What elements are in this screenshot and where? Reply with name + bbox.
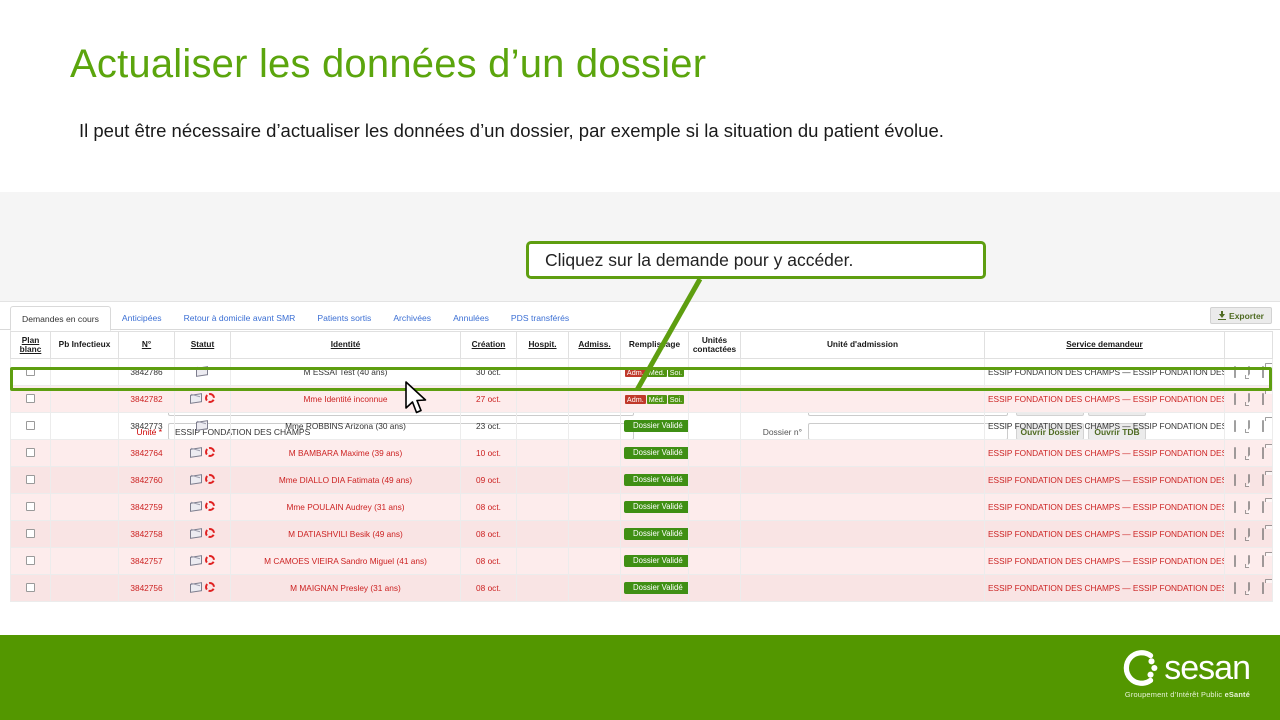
hospit-cell xyxy=(517,575,569,602)
creation-cell: 09 oct. xyxy=(461,467,517,494)
tab-5[interactable]: Annulées xyxy=(442,306,500,330)
remplissage-cell: Adm.Méd.Soi. xyxy=(621,386,689,413)
unites-contactees-cell xyxy=(689,413,741,440)
row-checkbox[interactable] xyxy=(26,475,35,484)
table-row[interactable]: 3842773Mme ROBBINS Arizona (30 ans)23 oc… xyxy=(11,413,1273,440)
remplissage-badges: Adm.Méd.Soi. xyxy=(625,395,684,405)
unite-admission-cell xyxy=(741,413,985,440)
num-cell[interactable]: 3842760 xyxy=(119,467,175,494)
num-cell[interactable]: 3842758 xyxy=(119,521,175,548)
row-checkbox-cell[interactable] xyxy=(11,494,51,521)
pb-infectieux-cell xyxy=(51,521,119,548)
row-checkbox-cell[interactable] xyxy=(11,575,51,602)
paperclip-icon[interactable] xyxy=(1229,529,1240,540)
pb-infectieux-cell xyxy=(51,575,119,602)
admiss-cell xyxy=(569,548,621,575)
table-row[interactable]: 3842764M BAMBARA Maxime (39 ans)10 oct.D… xyxy=(11,440,1273,467)
row-checkbox[interactable] xyxy=(26,529,35,538)
demandes-table: Plan blancPb InfectieuxN°StatutIdentitéC… xyxy=(10,331,1273,602)
admiss-cell xyxy=(569,386,621,413)
callout-text: Cliquez sur la demande pour y accéder. xyxy=(545,250,853,271)
row-checkbox[interactable] xyxy=(26,394,35,403)
envelope-icon xyxy=(196,366,209,377)
hospit-cell xyxy=(517,359,569,386)
service-demandeur-cell: ESSIP FONDATION DES CHAMPS — ESSIP FONDA… xyxy=(985,440,1225,467)
paperclip-icon[interactable] xyxy=(1229,502,1240,513)
badge-Soi: Soi. xyxy=(668,395,684,405)
badge-Adm: Adm. xyxy=(625,395,646,405)
table-header-3[interactable]: Statut xyxy=(175,332,231,359)
status-badge: Dossier Validé xyxy=(624,528,689,541)
row-actions-cell[interactable] xyxy=(1225,494,1273,521)
refresh-icon xyxy=(205,474,215,484)
demandes-table-wrap: Plan blancPb InfectieuxN°StatutIdentitéC… xyxy=(10,331,1272,602)
table-header-11[interactable]: Service demandeur xyxy=(985,332,1225,359)
envelope-icon xyxy=(190,582,203,593)
printer-icon[interactable] xyxy=(1257,475,1268,486)
unite-admission-cell xyxy=(741,386,985,413)
refresh-icon xyxy=(205,393,215,403)
service-demandeur-cell: ESSIP FONDATION DES CHAMPS — ESSIP FONDA… xyxy=(985,521,1225,548)
num-cell[interactable]: 3842764 xyxy=(119,440,175,467)
creation-cell: 30 oct. xyxy=(461,359,517,386)
creation-cell: 23 oct. xyxy=(461,413,517,440)
row-checkbox-cell[interactable] xyxy=(11,467,51,494)
statut-cell[interactable] xyxy=(175,494,231,521)
admiss-cell xyxy=(569,413,621,440)
num-cell[interactable]: 3842757 xyxy=(119,548,175,575)
paperclip-icon[interactable] xyxy=(1229,394,1240,405)
admiss-cell xyxy=(569,359,621,386)
slide-root: Actualiser les données d’un dossier Il p… xyxy=(0,0,1280,720)
identite-cell[interactable]: M CAMOES VIEIRA Sandro Miguel (41 ans) xyxy=(231,548,461,575)
pb-infectieux-cell xyxy=(51,494,119,521)
sesan-logo-tagline: Groupement d’Intérêt Public eSanté xyxy=(1125,690,1250,699)
printer-icon[interactable] xyxy=(1257,394,1268,405)
remplissage-cell: Dossier Validé xyxy=(621,494,689,521)
hospit-cell xyxy=(517,494,569,521)
table-header-8[interactable]: Remplissage xyxy=(621,332,689,359)
pb-infectieux-cell xyxy=(51,440,119,467)
paperclip-icon[interactable] xyxy=(1229,367,1240,378)
pb-infectieux-cell xyxy=(51,359,119,386)
remplissage-cell: Adm.Méd.Soi. xyxy=(621,359,689,386)
unites-contactees-cell xyxy=(689,494,741,521)
row-checkbox[interactable] xyxy=(26,421,35,430)
unite-admission-cell xyxy=(741,359,985,386)
row-actions-cell[interactable] xyxy=(1225,521,1273,548)
service-demandeur-cell: ESSIP FONDATION DES CHAMPS — ESSIP FONDA… xyxy=(985,494,1225,521)
num-cell[interactable]: 3842759 xyxy=(119,494,175,521)
statut-cell[interactable] xyxy=(175,386,231,413)
table-header-2[interactable]: N° xyxy=(119,332,175,359)
table-header-5[interactable]: Création xyxy=(461,332,517,359)
refresh-icon xyxy=(205,582,215,592)
printer-icon[interactable] xyxy=(1257,421,1268,432)
printer-icon[interactable] xyxy=(1257,583,1268,594)
sesan-logo: sesan xyxy=(1120,647,1250,689)
paperclip-icon[interactable] xyxy=(1229,448,1240,459)
badge-Soi: Soi. xyxy=(668,368,684,378)
paperclip-icon[interactable] xyxy=(1229,421,1240,432)
row-checkbox-cell[interactable] xyxy=(11,521,51,548)
tab-3[interactable]: Patients sortis xyxy=(306,306,382,330)
printer-icon[interactable] xyxy=(1257,448,1268,459)
tab-4[interactable]: Archivées xyxy=(382,306,442,330)
row-actions-cell[interactable] xyxy=(1225,575,1273,602)
statut-cell[interactable] xyxy=(175,521,231,548)
remplissage-cell: Dossier Validé xyxy=(621,521,689,548)
row-checkbox[interactable] xyxy=(26,583,35,592)
creation-cell: 08 oct. xyxy=(461,494,517,521)
unites-contactees-cell xyxy=(689,440,741,467)
printer-icon[interactable] xyxy=(1257,529,1268,540)
pb-infectieux-cell xyxy=(51,467,119,494)
hospit-cell xyxy=(517,548,569,575)
envelope-icon xyxy=(190,393,203,404)
row-actions-cell[interactable] xyxy=(1225,359,1273,386)
creation-cell: 27 oct. xyxy=(461,386,517,413)
paperclip-icon[interactable] xyxy=(1229,583,1240,594)
download-icon xyxy=(1218,311,1226,320)
row-actions-cell[interactable] xyxy=(1225,440,1273,467)
printer-icon[interactable] xyxy=(1257,556,1268,567)
unites-contactees-cell xyxy=(689,467,741,494)
service-demandeur-cell: ESSIP FONDATION DES CHAMPS — ESSIP FONDA… xyxy=(985,575,1225,602)
table-header-1[interactable]: Pb Infectieux xyxy=(51,332,119,359)
footer-band: sesan Groupement d’Intérêt Public eSanté xyxy=(0,635,1280,720)
row-checkbox-cell[interactable] xyxy=(11,440,51,467)
remplissage-cell: Dossier Validé xyxy=(621,575,689,602)
service-demandeur-cell: ESSIP FONDATION DES CHAMPS — ESSIP FONDA… xyxy=(985,413,1225,440)
service-demandeur-cell: ESSIP FONDATION DES CHAMPS — ESSIP FONDA… xyxy=(985,548,1225,575)
creation-cell: 08 oct. xyxy=(461,521,517,548)
table-row[interactable]: 3842760Mme DIALLO DIA Fatimata (49 ans)0… xyxy=(11,467,1273,494)
envelope-icon xyxy=(190,474,203,485)
envelope-icon xyxy=(190,501,203,512)
sesan-logo-mark-icon xyxy=(1120,647,1162,689)
tab-2[interactable]: Retour à domicile avant SMR xyxy=(173,306,307,330)
unite-admission-cell xyxy=(741,467,985,494)
unites-contactees-cell xyxy=(689,359,741,386)
page-title: Actualiser les données d’un dossier xyxy=(70,42,706,87)
tab-list: Demandes en coursAnticipéesRetour à domi… xyxy=(10,304,580,330)
unites-contactees-cell xyxy=(689,575,741,602)
hospit-cell xyxy=(517,521,569,548)
unite-admission-cell xyxy=(741,575,985,602)
admiss-cell xyxy=(569,521,621,548)
table-header-10[interactable]: Unité d'admission xyxy=(741,332,985,359)
export-button[interactable]: Exporter xyxy=(1210,307,1272,324)
hospit-cell xyxy=(517,467,569,494)
statut-cell[interactable] xyxy=(175,467,231,494)
table-row[interactable]: 3842759Mme POULAIN Audrey (31 ans)08 oct… xyxy=(11,494,1273,521)
identite-cell[interactable]: Mme POULAIN Audrey (31 ans) xyxy=(231,494,461,521)
note-icon[interactable] xyxy=(1243,502,1254,513)
service-demandeur-cell: ESSIP FONDATION DES CHAMPS — ESSIP FONDA… xyxy=(985,386,1225,413)
admiss-cell xyxy=(569,440,621,467)
mouse-cursor-icon xyxy=(404,381,430,417)
note-icon[interactable] xyxy=(1243,367,1254,378)
statut-cell[interactable] xyxy=(175,413,231,440)
row-actions-cell[interactable] xyxy=(1225,413,1273,440)
admiss-cell xyxy=(569,575,621,602)
refresh-icon xyxy=(205,528,215,538)
creation-cell: 10 oct. xyxy=(461,440,517,467)
table-header-9[interactable]: Unités contactées xyxy=(689,332,741,359)
callout-box: Cliquez sur la demande pour y accéder. xyxy=(526,241,986,279)
table-row[interactable]: 3842786M ESSAI Test (40 ans)30 oct.Adm.M… xyxy=(11,359,1273,386)
refresh-icon xyxy=(205,501,215,511)
table-header-row: Plan blancPb InfectieuxN°StatutIdentitéC… xyxy=(11,332,1273,359)
row-checkbox[interactable] xyxy=(26,448,35,457)
table-row[interactable]: 3842756M MAIGNAN Presley (31 ans)08 oct.… xyxy=(11,575,1273,602)
identite-cell[interactable]: Mme DIALLO DIA Fatimata (49 ans) xyxy=(231,467,461,494)
hospit-cell xyxy=(517,386,569,413)
note-icon[interactable] xyxy=(1243,556,1254,567)
row-checkbox-cell[interactable] xyxy=(11,413,51,440)
table-header-12[interactable] xyxy=(1225,332,1273,359)
identite-cell[interactable]: M DATIASHVILI Besik (49 ans) xyxy=(231,521,461,548)
row-checkbox[interactable] xyxy=(26,367,35,376)
note-icon[interactable] xyxy=(1243,421,1254,432)
creation-cell: 08 oct. xyxy=(461,575,517,602)
unite-admission-cell xyxy=(741,548,985,575)
admiss-cell xyxy=(569,467,621,494)
status-badge: Dossier Validé xyxy=(624,420,689,433)
table-header-0[interactable]: Plan blanc xyxy=(11,332,51,359)
envelope-icon xyxy=(190,555,203,566)
row-actions-cell[interactable] xyxy=(1225,386,1273,413)
unites-contactees-cell xyxy=(689,521,741,548)
table-header-7[interactable]: Admiss. xyxy=(569,332,621,359)
note-icon[interactable] xyxy=(1243,529,1254,540)
refresh-icon xyxy=(205,555,215,565)
tab-1[interactable]: Anticipées xyxy=(111,306,173,330)
tab-0[interactable]: Demandes en cours xyxy=(10,306,111,331)
sesan-logo-text: sesan xyxy=(1164,651,1250,685)
service-demandeur-cell: ESSIP FONDATION DES CHAMPS — ESSIP FONDA… xyxy=(985,359,1225,386)
num-cell[interactable]: 3842756 xyxy=(119,575,175,602)
badge-Méd: Méd. xyxy=(647,395,667,405)
note-icon[interactable] xyxy=(1243,394,1254,405)
statut-cell[interactable] xyxy=(175,548,231,575)
admiss-cell xyxy=(569,494,621,521)
status-badge: Dossier Validé xyxy=(624,447,689,460)
unite-admission-cell xyxy=(741,494,985,521)
remplissage-cell: Dossier Validé xyxy=(621,440,689,467)
unite-admission-cell xyxy=(741,440,985,467)
remplissage-cell: Dossier Validé xyxy=(621,548,689,575)
printer-icon[interactable] xyxy=(1257,367,1268,378)
remplissage-cell: Dossier Validé xyxy=(621,467,689,494)
row-checkbox[interactable] xyxy=(26,556,35,565)
unites-contactees-cell xyxy=(689,548,741,575)
pb-infectieux-cell xyxy=(51,413,119,440)
row-checkbox[interactable] xyxy=(26,502,35,511)
envelope-icon xyxy=(190,447,203,458)
table-row[interactable]: 3842757M CAMOES VIEIRA Sandro Miguel (41… xyxy=(11,548,1273,575)
row-actions-cell[interactable] xyxy=(1225,548,1273,575)
pb-infectieux-cell xyxy=(51,548,119,575)
note-icon[interactable] xyxy=(1243,475,1254,486)
identite-cell[interactable]: M MAIGNAN Presley (31 ans) xyxy=(231,575,461,602)
statut-cell[interactable] xyxy=(175,440,231,467)
pb-infectieux-cell xyxy=(51,386,119,413)
table-row[interactable]: 3842758M DATIASHVILI Besik (49 ans)08 oc… xyxy=(11,521,1273,548)
unites-contactees-cell xyxy=(689,386,741,413)
num-cell[interactable]: 3842782 xyxy=(119,386,175,413)
envelope-icon xyxy=(190,528,203,539)
row-checkbox-cell[interactable] xyxy=(11,359,51,386)
hospit-cell xyxy=(517,440,569,467)
paperclip-icon[interactable] xyxy=(1229,475,1240,486)
num-cell[interactable]: 3842786 xyxy=(119,359,175,386)
status-badge: Dossier Validé xyxy=(624,474,689,487)
envelope-icon xyxy=(196,420,209,431)
status-badge: Dossier Validé xyxy=(624,555,689,568)
creation-cell: 08 oct. xyxy=(461,548,517,575)
remplissage-cell: Dossier Validé xyxy=(621,413,689,440)
identite-cell[interactable]: M BAMBARA Maxime (39 ans) xyxy=(231,440,461,467)
printer-icon[interactable] xyxy=(1257,502,1268,513)
row-actions-cell[interactable] xyxy=(1225,467,1273,494)
status-badge: Dossier Validé xyxy=(624,501,689,514)
badge-Adm: Adm. xyxy=(625,368,646,378)
refresh-icon xyxy=(205,447,215,457)
row-checkbox-cell[interactable] xyxy=(11,386,51,413)
table-body: 3842786M ESSAI Test (40 ans)30 oct.Adm.M… xyxy=(11,359,1273,602)
status-badge: Dossier Validé xyxy=(624,582,689,595)
table-header-4[interactable]: Identité xyxy=(231,332,461,359)
table-row[interactable]: 3842782Mme Identité inconnue27 oct.Adm.M… xyxy=(11,386,1273,413)
remplissage-badges: Adm.Méd.Soi. xyxy=(625,368,684,378)
statut-cell[interactable] xyxy=(175,575,231,602)
tab-bar: Demandes en coursAnticipéesRetour à domi… xyxy=(0,304,1280,330)
page-subtitle: Il peut être nécessaire d’actualiser les… xyxy=(79,120,944,142)
num-cell[interactable]: 3842773 xyxy=(119,413,175,440)
note-icon[interactable] xyxy=(1243,448,1254,459)
hospit-cell xyxy=(517,413,569,440)
note-icon[interactable] xyxy=(1243,583,1254,594)
table-header-6[interactable]: Hospit. xyxy=(517,332,569,359)
paperclip-icon[interactable] xyxy=(1229,556,1240,567)
tab-6[interactable]: PDS transférés xyxy=(500,306,580,330)
row-checkbox-cell[interactable] xyxy=(11,548,51,575)
statut-cell[interactable] xyxy=(175,359,231,386)
unite-admission-cell xyxy=(741,521,985,548)
service-demandeur-cell: ESSIP FONDATION DES CHAMPS — ESSIP FONDA… xyxy=(985,467,1225,494)
badge-Méd: Méd. xyxy=(647,368,667,378)
